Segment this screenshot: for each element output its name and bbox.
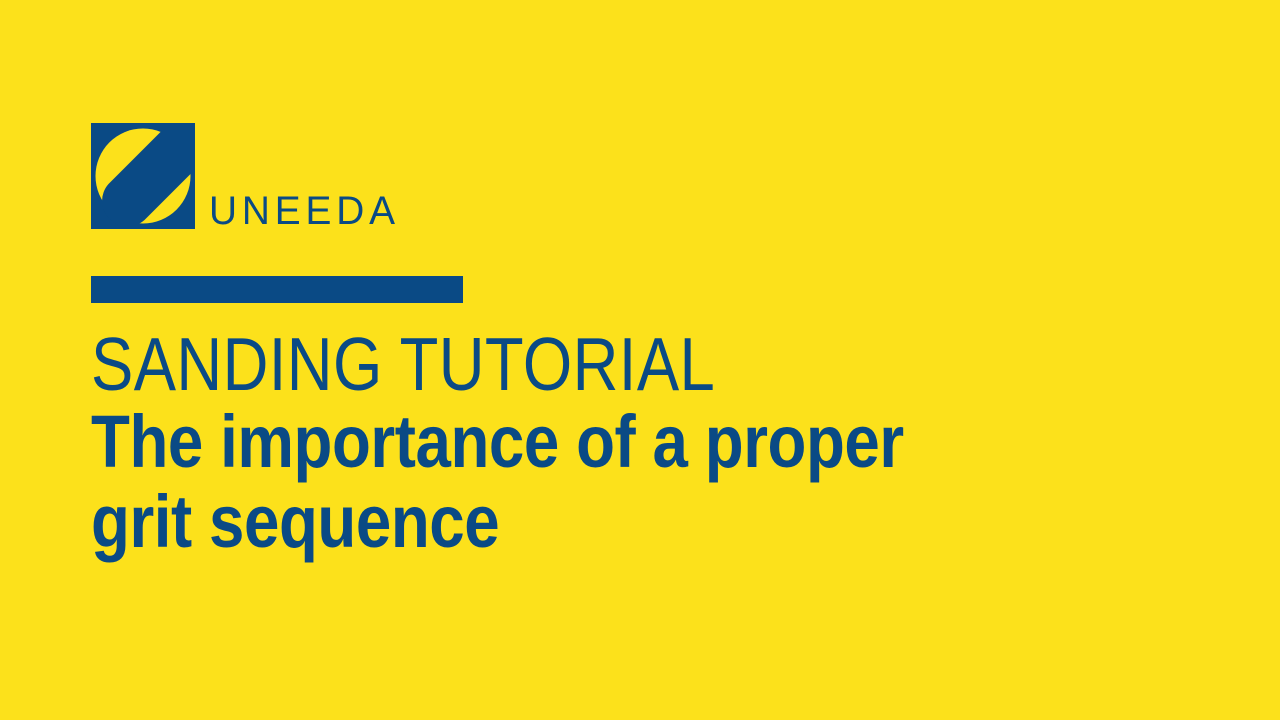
divider-bar xyxy=(91,276,463,303)
headline-line: The importance of a proper xyxy=(91,402,1080,482)
headline-line: grit sequence xyxy=(91,482,1080,562)
uneeda-logo-mark-icon xyxy=(91,123,195,229)
title-slide: UNEEDA SANDING TUTORIAL The importance o… xyxy=(0,0,1280,720)
title-text-block: SANDING TUTORIAL The importance of a pro… xyxy=(91,326,1091,562)
headline-text: The importance of a proper grit sequence xyxy=(91,402,1080,562)
eyebrow-text: SANDING TUTORIAL xyxy=(91,326,936,402)
uneeda-wordmark: UNEEDA xyxy=(209,191,400,231)
brand-lockup: UNEEDA xyxy=(91,123,406,229)
